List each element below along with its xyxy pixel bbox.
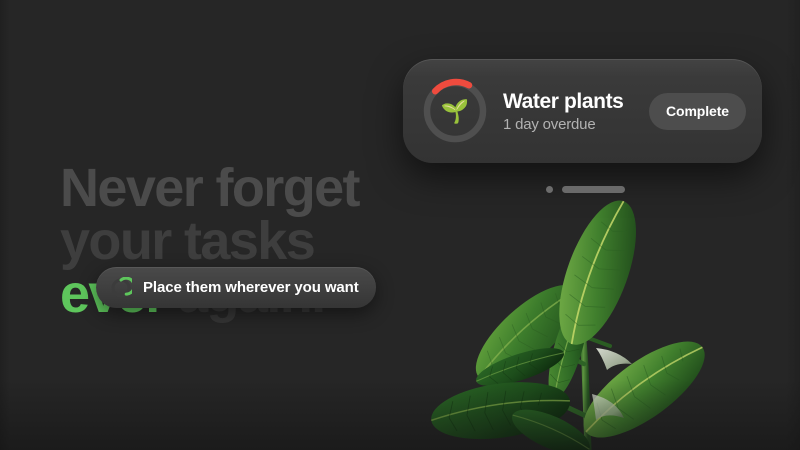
seedling-icon: 🌱 [421, 77, 489, 145]
task-subtitle: 1 day overdue [503, 116, 649, 133]
task-text-block: Water plants 1 day overdue [503, 90, 649, 133]
promo-screen: Never forget your tasks ever again. Plac… [0, 0, 800, 450]
complete-button[interactable]: Complete [649, 93, 746, 130]
place-anywhere-pill[interactable]: Place them wherever you want [96, 267, 376, 308]
page-indicator-dot[interactable] [546, 186, 553, 193]
headline-line-2: your tasks [60, 215, 480, 268]
right-edge-vignette [786, 0, 800, 450]
left-edge-vignette [0, 0, 10, 450]
task-title: Water plants [503, 90, 649, 114]
place-pill-label: Place them wherever you want [143, 279, 359, 296]
task-progress-ring: 🌱 [421, 77, 489, 145]
headline-line-1: Never forget [60, 162, 480, 215]
task-widget-card[interactable]: 🌱 Water plants 1 day overdue Complete [403, 59, 762, 163]
page-indicator[interactable] [546, 186, 625, 193]
bottom-vignette [0, 380, 800, 450]
page-indicator-active-bar[interactable] [562, 186, 625, 193]
progress-ring-icon [110, 277, 132, 299]
